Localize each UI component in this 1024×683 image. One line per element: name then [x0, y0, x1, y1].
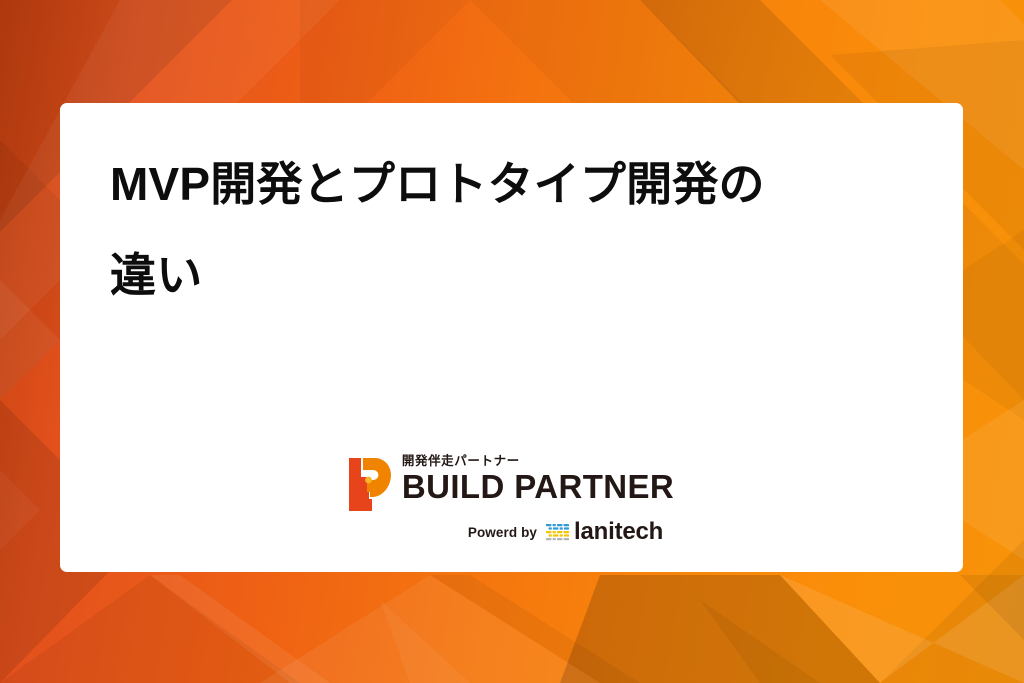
build-partner-mark-icon — [349, 458, 391, 511]
page-title: MVP開発とプロトタイプ開発の 違い — [110, 139, 910, 321]
lanitech-logo: lanitech — [546, 520, 663, 544]
logo-wordmark-group: 開発伴走パートナー BUILD PARTNER — [402, 455, 674, 506]
powered-by-row: Powerd by — [468, 520, 663, 544]
slide-canvas: MVP開発とプロトタイプ開発の 違い 開発 — [0, 0, 1024, 683]
brand-logo: 開発伴走パートナー BUILD PARTNER Powerd by — [60, 455, 963, 544]
content-card: MVP開発とプロトタイプ開発の 違い 開発 — [60, 103, 963, 572]
logo-primary-row: 開発伴走パートナー BUILD PARTNER — [349, 455, 674, 511]
lanitech-name: lanitech — [574, 520, 663, 544]
logo-tagline: 開発伴走パートナー — [402, 455, 520, 468]
powered-by-label: Powerd by — [468, 525, 537, 540]
logo-brand-name: BUILD PARTNER — [402, 469, 674, 506]
lanitech-grid-icon — [546, 523, 569, 542]
